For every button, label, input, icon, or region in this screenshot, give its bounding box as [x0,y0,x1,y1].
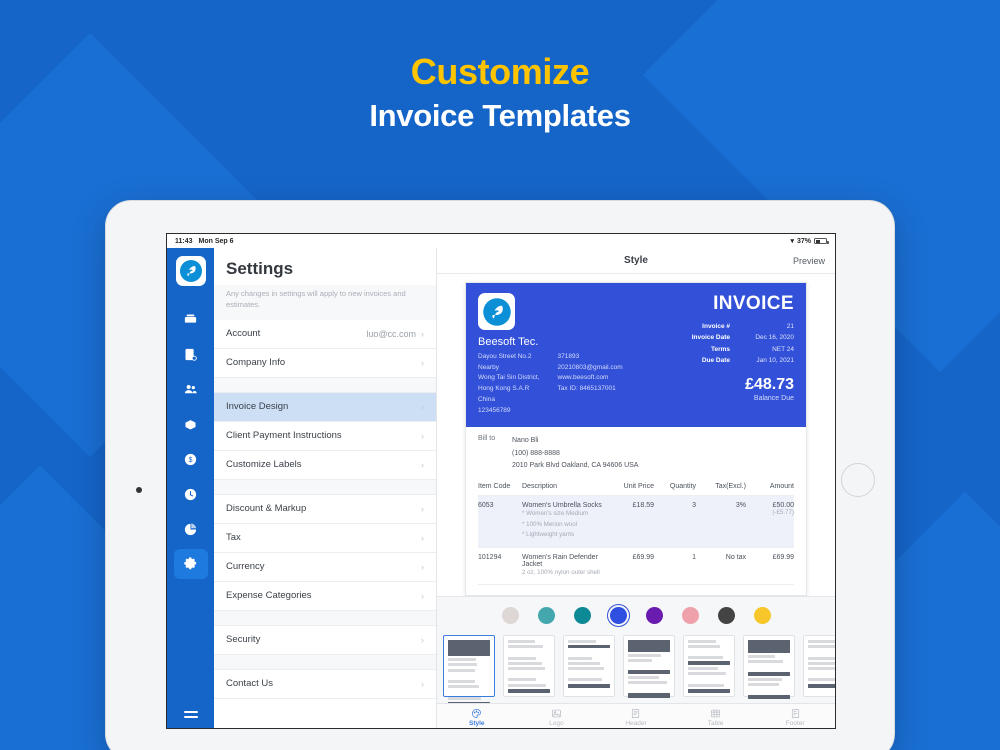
template-thumb-line [748,678,782,681]
color-swatch-2[interactable] [571,604,594,627]
template-thumb-line [508,640,535,643]
line-item-tax: 3% [696,502,746,509]
tab-label: Style [469,720,485,727]
settings-row-label: Discount & Markup [226,503,306,514]
bill-to-label: Bill to [478,435,512,472]
tab-logo[interactable]: Logo [517,708,597,727]
template-thumb-line [748,655,775,658]
template-thumb-line [448,690,490,694]
settings-row-label: Currency [226,561,265,572]
line-item-quantity: 1 [654,554,696,561]
template-thumb-line [628,681,667,684]
settings-panel: Settings Any changes in settings will ap… [214,248,437,729]
settings-groups: Accountluo@cc.com›Company Info›Invoice D… [214,320,436,699]
line-item-code: 101294 [478,554,522,561]
tab-style[interactable]: Style [437,708,517,727]
template-thumb-line [748,672,790,676]
invoice-meta-row: Due DateJan 10, 2021 [692,355,794,366]
style-pane: Style Preview [437,248,835,729]
template-thumb-2[interactable] [503,635,555,697]
template-thumb-line [688,677,730,681]
template-thumb-line [748,683,779,686]
invoice-preview-area: Beesoft Tec. Dayou Street No.2NearbyWong… [437,274,835,596]
template-thumb-line [748,660,783,663]
invoice-header: Beesoft Tec. Dayou Street No.2NearbyWong… [466,283,806,427]
template-thumb-line [568,684,610,688]
settings-row-company-info[interactable]: Company Info› [214,349,436,378]
invoice-meta-block: INVOICE Invoice #21Invoice DateDec 16, 2… [692,293,794,416]
settings-row-label: Invoice Design [226,401,288,412]
wifi-icon: ▾ [790,237,794,245]
color-swatch-0[interactable] [499,604,522,627]
svg-text:$: $ [189,457,193,464]
template-thumb-line [448,680,475,683]
invoice-meta-row: Invoice #21 [692,321,794,332]
color-swatch-1[interactable] [535,604,558,627]
template-thumb-line [568,667,604,670]
line-item-price: £18.59 [608,502,654,509]
bill-to-line: Nano Bli [512,435,638,447]
settings-row-label: Contact Us [226,678,273,689]
invoice-meta-value: NET 24 [746,344,794,355]
company-contact-line: www.beesoft.com [558,373,623,384]
bill-to-block: Bill to Nano Bli(100) 888-88882010 Park … [466,427,806,476]
chevron-right-icon: › [421,635,424,645]
template-thumb-3[interactable] [563,635,615,697]
invoice-meta-value: 21 [746,321,794,332]
sidebar-item-clients[interactable] [174,374,208,404]
settings-row-contact-us[interactable]: Contact Us› [214,670,436,699]
color-swatch-dot [682,607,699,624]
settings-row-label: Company Info [226,357,285,368]
template-thumb-line [808,640,835,643]
template-thumb-line [808,650,835,654]
table-row[interactable]: 101294Women's Rain Defender Jacket2 oz, … [478,548,794,586]
balance-block: £48.73 Balance Due [692,376,794,402]
chevron-right-icon: › [421,679,424,689]
table-header-row: Item Code Description Unit Price Quantit… [478,476,794,496]
settings-row-label: Expense Categories [226,590,312,601]
sidebar-item-estimates[interactable] [174,339,208,369]
template-thumb-4[interactable] [623,635,675,697]
color-swatch-7[interactable] [751,604,774,627]
style-toolbar [437,596,835,703]
settings-row-account[interactable]: Accountluo@cc.com› [214,320,436,349]
invoice-meta-value: Dec 16, 2020 [746,332,794,343]
col-amount: Amount [746,483,794,490]
promo-headline: Customize Invoice Templates [0,52,1000,133]
app-logo-icon [176,256,206,286]
template-thumb-line [808,667,835,670]
settings-row-invoice-design[interactable]: Invoice Design› [214,393,436,422]
template-thumb-line [688,645,720,648]
color-swatches [437,597,835,633]
company-contact-line: 20210803@gmail.com [558,363,623,374]
line-item-amount: £50.00(-£5.77) [746,502,794,516]
settings-row-label: Account [226,328,260,339]
settings-row-tax[interactable]: Tax› [214,524,436,553]
template-thumb-line [508,678,536,681]
settings-row-discount-markup[interactable]: Discount & Markup› [214,495,436,524]
template-thumb-line [448,669,475,672]
template-thumb-line [448,685,479,688]
template-thumb-6[interactable] [743,635,795,697]
template-thumb-line [448,702,490,703]
color-swatch-dot [574,607,591,624]
line-item-amount: £69.99 [746,554,794,561]
line-item-sub: 2 oz, 100% nylon outer shell [522,568,608,579]
invoice-meta-row: Invoice DateDec 16, 2020 [692,332,794,343]
grid-icon [676,708,756,719]
palette-icon [437,708,517,719]
template-thumb-1[interactable] [443,635,495,697]
headline-line-2: Invoice Templates [0,99,1000,133]
template-thumb-line [568,650,610,654]
sidebar-item-time[interactable] [174,479,208,509]
template-thumb-line [688,650,730,653]
chevron-right-icon: › [421,460,424,470]
company-contact-line: 371893 [558,352,623,363]
template-thumb-line [508,672,550,676]
sidebar-item-items[interactable] [174,409,208,439]
settings-row-security[interactable]: Security› [214,626,436,655]
template-thumb-5[interactable] [683,635,735,697]
company-address-line: Wong Tai Sin District, [478,373,540,384]
template-thumb-line [808,657,835,660]
chevron-right-icon: › [421,562,424,572]
invoice-meta-list: Invoice #21Invoice DateDec 16, 2020Terms… [692,321,794,367]
bill-to-line: (100) 888-8888 [512,448,638,460]
template-thumb-line [508,667,545,670]
color-swatch-4[interactable] [643,604,666,627]
template-thumb-line [568,640,596,643]
sidebar-item-payments[interactable]: $ [174,444,208,474]
template-thumb-line [568,672,610,676]
template-thumb-line [508,684,546,687]
hamburger-icon[interactable] [184,709,198,721]
icon-sidebar: $ [167,248,214,729]
color-swatch-dot [502,607,519,624]
template-thumb-line [808,662,835,665]
invoice-meta-value: Jan 10, 2021 [746,355,794,366]
invoice-meta-key: Terms [711,344,730,355]
line-item-description: Women's Rain Defender Jacket2 oz, 100% n… [522,554,608,579]
color-swatch-dot [610,607,627,624]
company-contact-line: Tax ID: 8465137001 [558,384,623,395]
pane-title: Style [624,255,648,266]
tab-table[interactable]: Table [676,708,756,727]
chevron-right-icon: › [421,329,424,339]
invoice-meta-key: Invoice # [702,321,730,332]
preview-button[interactable]: Preview [793,256,825,266]
home-button[interactable] [841,463,875,497]
battery-percent: 37% [797,238,811,245]
tab-label: Logo [549,720,563,727]
company-address: Dayou Street No.2NearbyWong Tai Sin Dist… [478,352,540,416]
company-address-line: 123456789 [478,406,540,417]
settings-row-label: Client Payment Instructions [226,430,342,441]
table-row[interactable]: 6053Women's Umbrella Socks* Women's size… [478,496,794,548]
image-icon [517,708,597,719]
template-thumb-line [628,665,670,668]
tab-label: Header [625,720,646,727]
template-thumb-7[interactable] [803,635,835,697]
template-thumbnails [437,633,835,703]
table-body: 6053Women's Umbrella Socks* Women's size… [478,496,794,585]
chevron-right-icon: › [421,358,424,368]
invoice-meta-key: Due Date [702,355,730,366]
tab-footer[interactable]: Footer [755,708,835,727]
line-item-sub: * 100% Merion wool [522,520,608,531]
tab-header[interactable]: Header [596,708,676,727]
template-thumb-line [688,667,718,670]
settings-row-label: Tax [226,532,241,543]
color-swatch-6[interactable] [715,604,738,627]
company-address-line: Dayou Street No.2 [478,352,540,363]
bill-to-line: 2010 Park Blvd Oakland, CA 94606 USA [512,460,638,472]
company-contact: 37189320210803@gmail.comwww.beesoft.comT… [558,352,623,416]
color-swatch-5[interactable] [679,604,702,627]
template-thumb-line [448,658,476,661]
template-thumb-line [808,672,835,676]
page-title: Settings [214,248,436,285]
headline-line-1: Customize [0,52,1000,92]
battery-icon [814,238,827,244]
template-thumb-line [628,693,670,698]
line-item-description: Women's Umbrella Socks* Women's size Med… [522,502,608,541]
col-tax: Tax(Excl.) [696,483,746,490]
style-tab-bar: StyleLogoHeaderTableFooter [437,703,835,729]
settings-row-currency[interactable]: Currency› [214,553,436,582]
template-thumb-line [748,688,790,692]
front-camera [136,487,142,493]
template-thumb-line [628,670,670,674]
template-thumb-line [568,678,602,681]
line-item-tax: No tax [696,554,746,561]
settings-row-label: Customize Labels [226,459,302,470]
chevron-right-icon: › [421,504,424,514]
line-item-price: £69.99 [608,554,654,561]
invoice-document: Beesoft Tec. Dayou Street No.2NearbyWong… [465,282,807,596]
template-thumb-line [688,672,726,675]
footer-doc-icon [755,708,835,719]
tablet-device: 11:43 Mon Sep 6 ▾ 37% [105,200,895,750]
chevron-right-icon: › [421,591,424,601]
color-swatch-3[interactable] [607,604,630,627]
col-unit-price: Unit Price [608,483,654,490]
settings-group-separator [214,480,436,495]
chevron-right-icon: › [421,533,424,543]
line-item-discount: (-£5.77) [746,509,794,516]
invoice-word: INVOICE [692,293,794,315]
col-quantity: Quantity [654,483,696,490]
chevron-right-icon: › [421,431,424,441]
template-thumb-line [808,678,835,681]
template-thumb-line [688,684,724,687]
template-thumb-line [628,640,670,652]
template-thumb-line [688,661,730,665]
template-thumb-line [568,657,592,660]
company-address-line: China [478,395,540,406]
template-thumb-line [448,663,477,666]
template-thumb-line [808,645,835,648]
template-thumb-line [808,684,835,688]
settings-row-customize-labels[interactable]: Customize Labels› [214,451,436,480]
template-thumb-line [628,654,661,657]
template-thumb-line [568,662,600,665]
template-thumb-line [448,674,490,678]
company-address-line: Hong Kong S.A.R [478,384,540,395]
company-name: Beesoft Tec. [478,336,623,348]
status-bar: 11:43 Mon Sep 6 ▾ 37% [167,234,835,248]
color-swatch-dot [538,607,555,624]
invoice-meta-row: TermsNET 24 [692,344,794,355]
template-thumb-line [448,697,481,700]
settings-row-value: luo@cc.com [366,329,416,339]
bill-to-lines: Nano Bli(100) 888-88882010 Park Blvd Oak… [512,435,638,472]
settings-row-client-payment-instructions[interactable]: Client Payment Instructions› [214,422,436,451]
line-item-quantity: 3 [654,502,696,509]
line-item-code: 6053 [478,502,522,509]
template-thumb-line [508,645,543,648]
line-item-sub: * Women's size Medium [522,509,608,520]
template-thumb-line [628,676,659,679]
settings-group-separator [214,611,436,626]
template-thumb-line [628,659,652,662]
template-thumb-line [508,650,550,654]
template-thumb-line [628,686,670,690]
template-thumb-line [748,695,790,699]
settings-group-separator [214,655,436,670]
color-swatch-dot [718,607,735,624]
tab-label: Table [708,720,724,727]
template-thumb-line [568,645,610,648]
template-thumb-line [688,656,723,659]
sidebar-item-settings[interactable] [174,549,208,579]
color-swatch-dot [754,607,771,624]
sidebar-item-invoices[interactable] [174,304,208,334]
template-thumb-line [508,689,550,693]
template-thumb-line [508,662,542,665]
settings-group-separator [214,378,436,393]
company-logo-icon [478,293,515,330]
settings-row-expense-categories[interactable]: Expense Categories› [214,582,436,611]
sidebar-item-reports[interactable] [174,514,208,544]
color-swatch-dot [646,607,663,624]
template-thumb-line [688,640,716,643]
balance-label: Balance Due [692,395,794,402]
invoice-meta-key: Invoice Date [692,332,730,343]
template-thumb-line [508,657,536,660]
chevron-right-icon: › [421,402,424,412]
tablet-screen: 11:43 Mon Sep 6 ▾ 37% [166,233,836,729]
tab-label: Footer [786,720,805,727]
balance-amount: £48.73 [692,376,794,394]
line-items-table: Item Code Description Unit Price Quantit… [466,476,806,585]
col-description: Description [522,483,608,490]
template-thumb-line [748,666,790,670]
status-date: Mon Sep 6 [199,238,234,245]
pane-header: Style Preview [437,248,835,274]
template-thumb-line [448,640,490,656]
app-body: $ Settings An [167,248,835,729]
settings-row-label: Security [226,634,260,645]
company-address-line: Nearby [478,363,540,374]
template-thumb-line [688,689,730,693]
col-item-code: Item Code [478,483,522,490]
template-thumb-line [748,640,790,653]
header-doc-icon [596,708,676,719]
status-time: 11:43 [175,238,193,245]
settings-note: Any changes in settings will apply to ne… [214,285,436,320]
line-item-sub: * Lightweight yarns [522,530,608,541]
